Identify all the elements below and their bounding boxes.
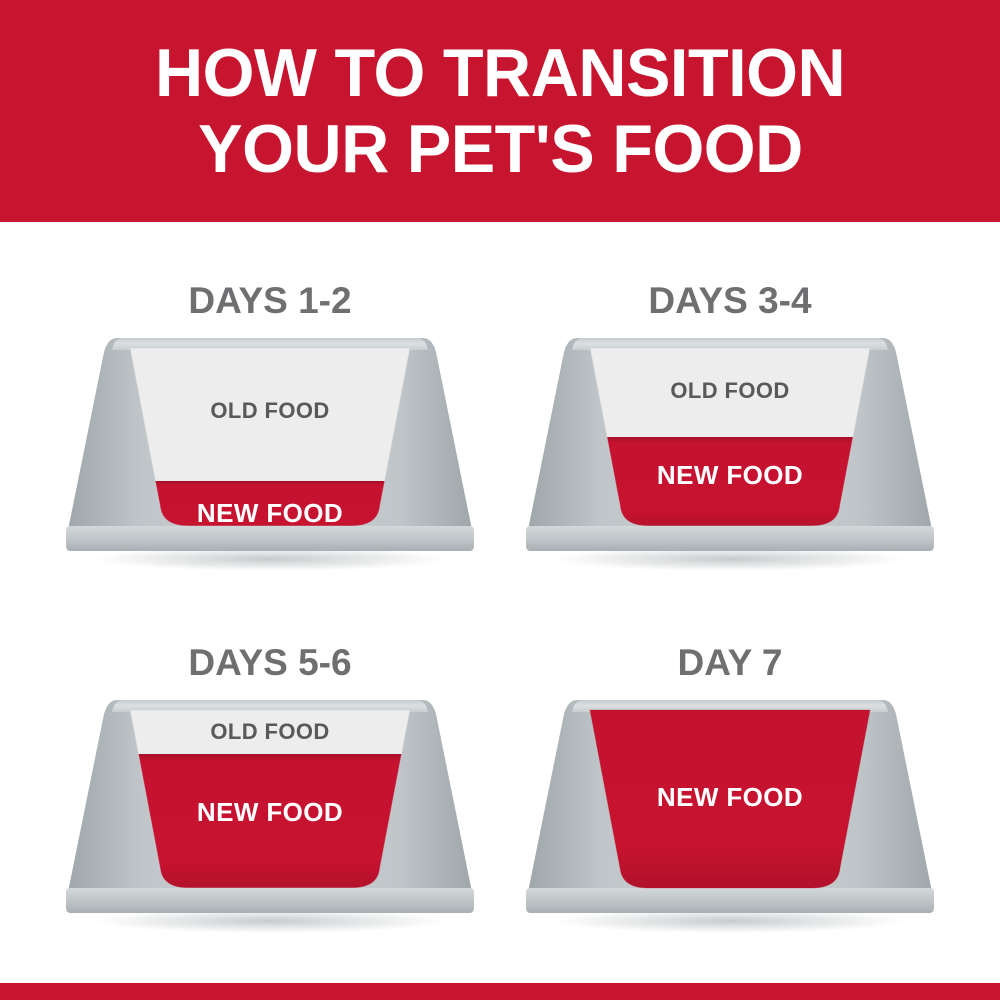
transition-panel-days-5-6: DAYS 5-6: [40, 612, 500, 972]
panel-title: DAY 7: [500, 642, 960, 684]
header-title-line-1: HOW TO TRANSITION: [155, 39, 845, 107]
footer-accent-bar: [0, 983, 1000, 1000]
bowl-base: [66, 888, 474, 913]
transition-panel-days-1-2: DAYS 1-2: [40, 250, 500, 610]
food-bowl-day-7: NEW FOOD: [522, 692, 938, 942]
bowl-base: [66, 526, 474, 551]
food-bowl-days-1-2: OLD FOOD NEW FOOD: [62, 330, 478, 580]
bowl-graphic: [522, 330, 938, 580]
new-food-fill: [582, 706, 882, 904]
header-title-line-2: YOUR PET'S FOOD: [198, 115, 803, 183]
bowl-base: [526, 526, 934, 551]
panel-title: DAYS 5-6: [40, 642, 500, 684]
header-banner: HOW TO TRANSITION YOUR PET'S FOOD: [0, 0, 1000, 222]
panel-title: DAYS 1-2: [40, 280, 500, 322]
bowl-graphic: [62, 330, 478, 580]
transition-panel-day-7: DAY 7: [500, 612, 960, 972]
food-bowl-days-3-4: OLD FOOD NEW FOOD: [522, 330, 938, 580]
bowl-graphic: [62, 692, 478, 942]
panel-grid: DAYS 1-2: [0, 222, 1000, 983]
food-bowl-days-5-6: OLD FOOD NEW FOOD: [62, 692, 478, 942]
panel-title: DAYS 3-4: [500, 280, 960, 322]
bowl-graphic: [522, 692, 938, 942]
transition-panel-days-3-4: DAYS 3-4: [500, 250, 960, 610]
bowl-base: [526, 888, 934, 913]
